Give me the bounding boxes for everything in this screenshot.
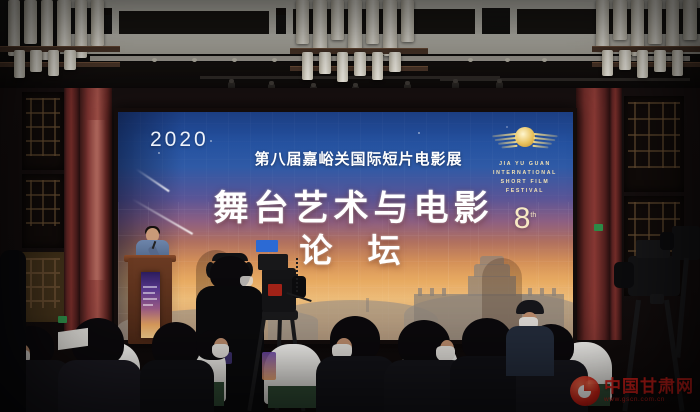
flag-pole [366,298,369,312]
emblem-wing-right [530,133,558,152]
pendant-light-cluster [592,0,700,92]
lamp-tube [57,0,71,50]
watermark-url: www.gscn.com.cn [604,397,694,404]
camera-body [672,226,700,260]
festival-logo-line3: SHORT FILM [489,178,561,187]
lamp-tube [30,50,42,72]
festival-logo-line2: INTERNATIONAL [489,169,561,178]
downlight [505,58,510,62]
lamp-tube [637,50,648,78]
watermark: 中国甘肃网 www.gscn.com.cn [570,376,694,406]
watermark-text: 中国甘肃网 www.gscn.com.cn [604,378,694,404]
lamp-tube [602,50,613,76]
audience-body [140,360,214,412]
fortress-merlon [430,288,434,296]
downlight [272,58,277,62]
gansu-net-logo-icon [570,376,600,406]
lamp-tube [296,0,309,44]
lamp-tube [596,0,609,50]
lamp-tube [348,0,362,52]
downlight [468,58,473,62]
podium-led-panel [141,272,160,338]
lamp-tube [654,50,666,72]
festival-logo-line1: JIA YU GUAN [489,160,561,169]
festival-logo-line4: FESTIVAL [489,187,561,196]
chair-sash [268,386,320,408]
lamp-tube [24,0,37,44]
emblem-wing-left [492,133,520,152]
fortress-merlon [528,288,532,296]
lamp-tube [64,50,76,70]
lattice-panel [22,92,64,170]
lamp-tube [337,52,348,82]
audience-body [58,360,142,412]
lamp-tube [14,50,25,78]
lamp-tube [91,0,104,46]
lamp-tube [613,0,627,40]
photo-canvas: 2020 第八届嘉峪关国际短片电影展 舞台艺术与电影 论 坛 [0,0,700,412]
lamp-tube [319,52,331,74]
camera-monitor [256,240,278,252]
downlight [542,58,547,62]
fortress-merlon [418,288,422,296]
pillar [576,88,610,340]
edition-suffix: th [530,212,536,219]
edition-number: 8 [514,202,531,235]
festival-logo: JIA YU GUAN INTERNATIONAL SHORT FILM FES… [489,126,561,233]
lamp-tube [672,50,683,76]
lamp-tube [683,0,697,40]
floor-led-sign [262,352,276,380]
fortress-merlon [442,288,446,296]
downlight [192,58,197,62]
attendee-body [506,326,554,376]
downlight [232,58,237,62]
pendant-light-cluster [0,0,130,92]
lamp-tube [331,0,344,40]
lamp-tube [372,52,383,80]
lamp-tube [366,0,379,44]
camera-viewfinder [258,254,288,270]
standing-attendee [0,250,26,412]
pillar [64,88,80,338]
fortress-merlon [540,288,544,296]
fortress-merlon [552,288,556,296]
pendant-light-cluster [290,0,440,96]
watermark-brand: 中国甘肃网 [604,378,694,395]
star-dot [418,132,420,134]
pillar-highlight [86,120,106,280]
face-mask [212,344,229,358]
camera-lens [614,262,634,288]
star-dot [210,140,212,142]
lamp-tube [302,52,313,80]
camera-cable [296,258,300,292]
festival-emblem-icon [493,126,557,156]
lattice-panel [22,252,64,322]
lamp-tube [313,0,327,54]
festival-edition: 8th [489,202,561,233]
tripod-head [650,294,664,304]
downlight [152,58,157,62]
camera-body [628,256,680,296]
lamp-tube [389,52,401,72]
lattice-panel [624,96,684,192]
camera-label [268,284,282,296]
exit-sign [58,316,67,323]
lamp-tube [619,50,631,70]
exit-sign [594,224,603,231]
lattice-panel [22,174,64,248]
lamp-tube [648,0,662,44]
camera-lens [660,232,674,250]
lamp-tube [48,50,59,76]
lamp-tube [401,0,414,42]
lamp-tube [666,0,679,52]
lamp-tube [354,52,366,76]
pillar [610,88,622,340]
